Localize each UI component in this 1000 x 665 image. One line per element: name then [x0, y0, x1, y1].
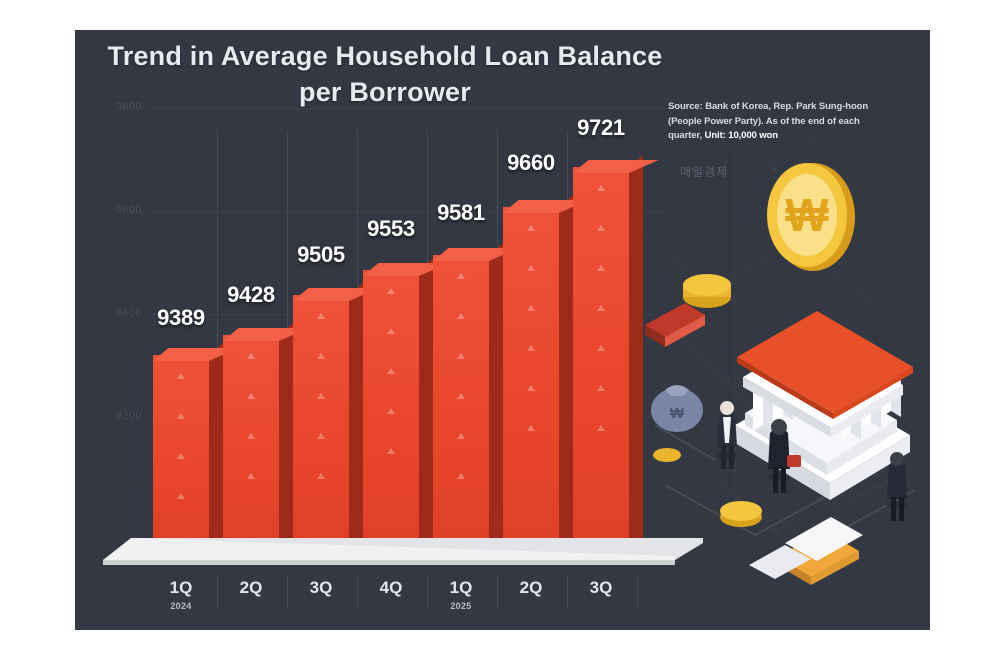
xaxis-separator [287, 575, 288, 609]
bar-2q-2025[interactable] [503, 207, 559, 550]
bar-face [433, 255, 489, 550]
gridline-9800 [147, 108, 667, 109]
ground-coin-icon [653, 448, 681, 462]
bar-top [573, 160, 644, 173]
bar-top [153, 348, 224, 361]
ytick-label-9200: 9200 [87, 410, 142, 422]
xaxis-label-1q-2025: 1Q 2025 [421, 578, 501, 611]
screenshot-root: Trend in Average Household Loan Balance … [0, 0, 1000, 665]
xaxis-separator [427, 575, 428, 609]
xaxis-year-2024: 2024 [141, 601, 221, 611]
xaxis-label-3q-2025: 3Q [561, 578, 641, 598]
xaxis-separator [637, 575, 638, 609]
bar-top [363, 263, 434, 276]
xaxis-label-3q-2024: 3Q [281, 578, 361, 598]
xaxis-label-text: 4Q [380, 578, 403, 597]
bar-side [419, 258, 433, 550]
bar-3q-2025[interactable] [573, 167, 629, 550]
bar-value-label-4q-2024: 9553 [351, 216, 431, 242]
xaxis-label-text: 2Q [240, 578, 263, 597]
ytick-label-9800: 9800 [87, 101, 142, 113]
bar-top [223, 328, 294, 341]
bar-top [503, 200, 574, 213]
bar-3q-2024[interactable] [293, 295, 349, 550]
xaxis-label-text: 3Q [590, 578, 613, 597]
credit-card-icon [645, 303, 705, 347]
person-icon-1 [717, 401, 737, 469]
money-bag-icon: ₩ [651, 385, 703, 432]
bar-side [629, 155, 643, 550]
bar-value-label-2q-2025: 9660 [491, 150, 571, 176]
bar-side [209, 343, 223, 550]
bar-1q-2025[interactable] [433, 255, 489, 550]
bar-face [293, 295, 349, 550]
xaxis-label-1q-2024: 1Q 2024 [141, 578, 221, 611]
xaxis-separator [357, 575, 358, 609]
xaxis-label-2q-2024: 2Q [211, 578, 291, 598]
won-coin-icon: ₩ [767, 163, 855, 271]
xaxis-label-4q-2024: 4Q [351, 578, 431, 598]
bar-4q-2024[interactable] [363, 270, 419, 550]
bar-value-label-1q-2024: 9389 [141, 305, 221, 331]
xaxis-year-2025: 2025 [421, 601, 501, 611]
ground-coin-icon [720, 501, 762, 527]
bar-side [279, 323, 293, 550]
bar-top [433, 248, 504, 261]
xaxis-label-text: 1Q [450, 578, 473, 597]
xaxis-label-text: 2Q [520, 578, 543, 597]
bar-face [363, 270, 419, 550]
bar-value-label-3q-2024: 9505 [281, 242, 361, 268]
xaxis-label-text: 1Q [170, 578, 193, 597]
ytick-label-9600: 9600 [87, 204, 142, 216]
bar-side [489, 243, 503, 550]
ytick-label-9400: 9400 [87, 307, 142, 319]
bank-building-icon [735, 311, 913, 500]
xaxis-separator [217, 575, 218, 609]
bar-face [573, 167, 629, 550]
bar-side [349, 283, 363, 550]
bar-2q-2024[interactable] [223, 335, 279, 550]
platform-shape [103, 520, 703, 565]
bar-value-label-3q-2025: 9721 [561, 115, 641, 141]
bar-value-label-1q-2025: 9581 [421, 200, 501, 226]
svg-text:₩: ₩ [670, 405, 685, 422]
bar-face [223, 335, 279, 550]
chart-panel: Trend in Average Household Loan Balance … [75, 30, 930, 630]
xaxis-separator [567, 575, 568, 609]
coin-stack-icon [683, 274, 731, 308]
svg-text:₩: ₩ [785, 189, 829, 241]
bar-face [503, 207, 559, 550]
xaxis-separator [497, 575, 498, 609]
base-platform [103, 520, 703, 565]
bar-side [559, 195, 573, 550]
xaxis-label-text: 3Q [310, 578, 333, 597]
xaxis-label-2q-2025: 2Q [491, 578, 571, 598]
bar-top [293, 288, 364, 301]
bank-illustration: ₩ [645, 125, 930, 595]
bar-value-label-2q-2024: 9428 [211, 282, 291, 308]
